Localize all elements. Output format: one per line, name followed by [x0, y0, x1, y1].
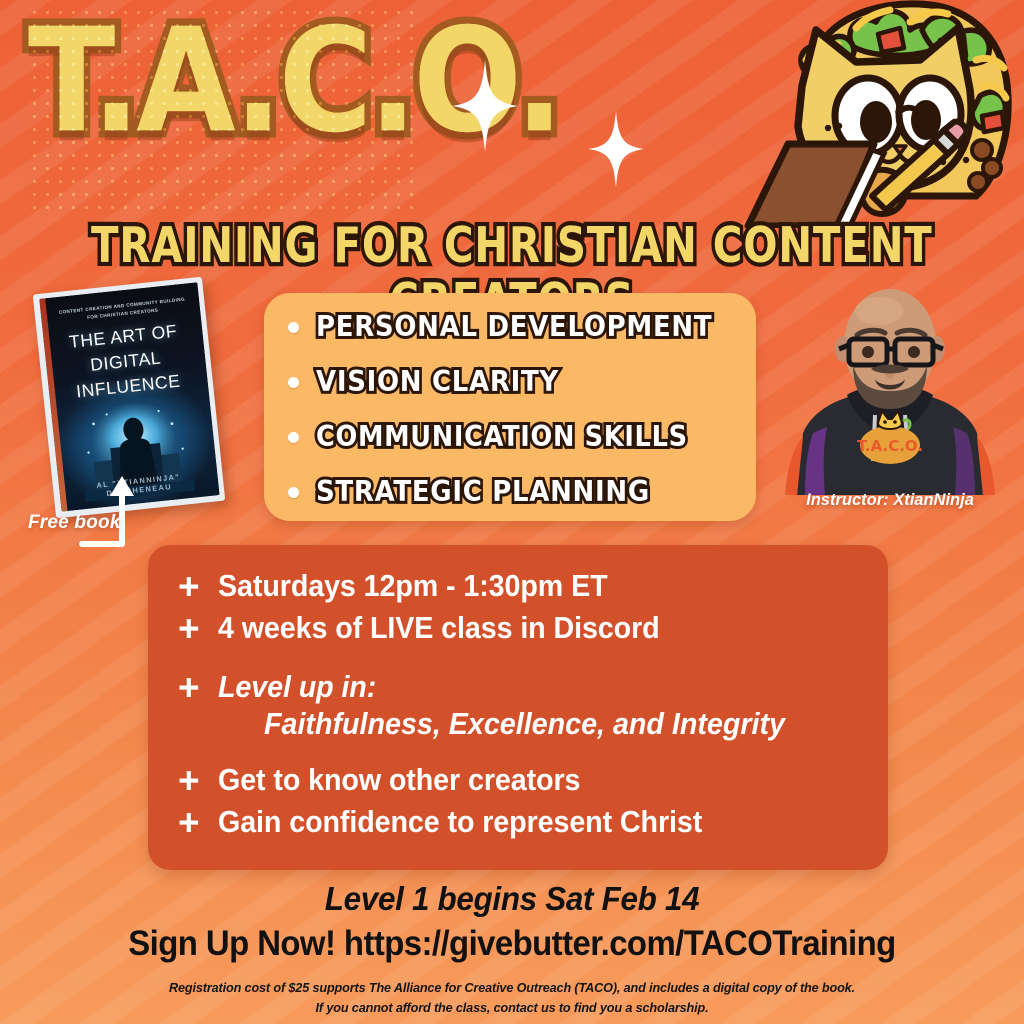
- spacer: [178, 742, 862, 759]
- bullet-dot-icon: [288, 487, 299, 498]
- plus-icon: +: [178, 762, 200, 799]
- detail-row: + Get to know other creators: [178, 759, 862, 801]
- topic-label: PERSONAL DEVELOPMENT: [316, 311, 712, 344]
- detail-row: + 4 weeks of LIVE class in Discord: [178, 607, 862, 649]
- taco-logo: T.A.C.O. T.A.C.O.: [28, 6, 418, 211]
- fine-print: Registration cost of $25 supports The Al…: [20, 978, 1003, 1018]
- detail-row: + Level up in:: [178, 666, 862, 708]
- taco-logo-text: T.A.C.O.: [28, 0, 418, 164]
- list-item: VISION CLARITY: [288, 367, 734, 397]
- topic-label: VISION CLARITY: [316, 366, 559, 399]
- detail-text: Level up in:: [218, 667, 376, 708]
- sparkle-star-icon: [452, 60, 518, 152]
- plus-icon: +: [178, 610, 200, 647]
- spacer: [178, 649, 862, 666]
- detail-row: + Gain confidence to represent Christ: [178, 801, 862, 843]
- detail-text: Saturdays 12pm - 1:30pm ET: [218, 566, 608, 607]
- instructor-caption: Instructor: XtianNinja: [779, 491, 1001, 510]
- bullet-dot-icon: [288, 377, 299, 388]
- topic-label: COMMUNICATION SKILLS: [316, 421, 688, 454]
- taco-cat-mascot-icon: [744, 0, 1016, 228]
- detail-row: + Saturdays 12pm - 1:30pm ET: [178, 565, 862, 607]
- list-item: COMMUNICATION SKILLS: [288, 422, 734, 452]
- fine-print-line-2: If you cannot afford the class, contact …: [20, 998, 1003, 1018]
- book-title: THE ART OF DIGITAL INFLUENCE: [51, 317, 201, 406]
- course-topics-panel: PERSONAL DEVELOPMENT VISION CLARITY COMM…: [264, 293, 756, 521]
- fine-print-line-1: Registration cost of $25 supports The Al…: [20, 978, 1003, 998]
- list-item: PERSONAL DEVELOPMENT: [288, 312, 734, 342]
- detail-text: Gain confidence to represent Christ: [218, 802, 702, 843]
- plus-icon: +: [178, 568, 200, 605]
- signup-link[interactable]: Sign Up Now! https://givebutter.com/TACO…: [31, 924, 994, 964]
- instructor-block: T.A.C.O. Instructor: XtianNinja: [779, 283, 1001, 521]
- plus-icon: +: [178, 804, 200, 841]
- svg-text:T.A.C.O.: T.A.C.O.: [857, 437, 923, 455]
- free-book-arrow-icon: [78, 470, 150, 550]
- promo-poster: T.A.C.O. T.A.C.O.: [0, 0, 1024, 1024]
- free-book-label: Free book: [28, 512, 121, 534]
- topic-label: STRATEGIC PLANNING: [316, 476, 650, 509]
- detail-text: 4 weeks of LIVE class in Discord: [218, 608, 660, 649]
- detail-text: Get to know other creators: [218, 760, 580, 801]
- detail-subline: Faithfulness, Excellence, and Integrity: [264, 707, 826, 742]
- instructor-photo: T.A.C.O.: [779, 283, 1001, 495]
- plus-icon: +: [178, 669, 200, 706]
- course-details-panel: + Saturdays 12pm - 1:30pm ET + 4 weeks o…: [148, 545, 888, 870]
- list-item: STRATEGIC PLANNING: [288, 477, 734, 507]
- bullet-dot-icon: [288, 322, 299, 333]
- start-date-line: Level 1 begins Sat Feb 14: [26, 880, 999, 918]
- bullet-dot-icon: [288, 432, 299, 443]
- sparkle-star-small-icon: [588, 111, 644, 187]
